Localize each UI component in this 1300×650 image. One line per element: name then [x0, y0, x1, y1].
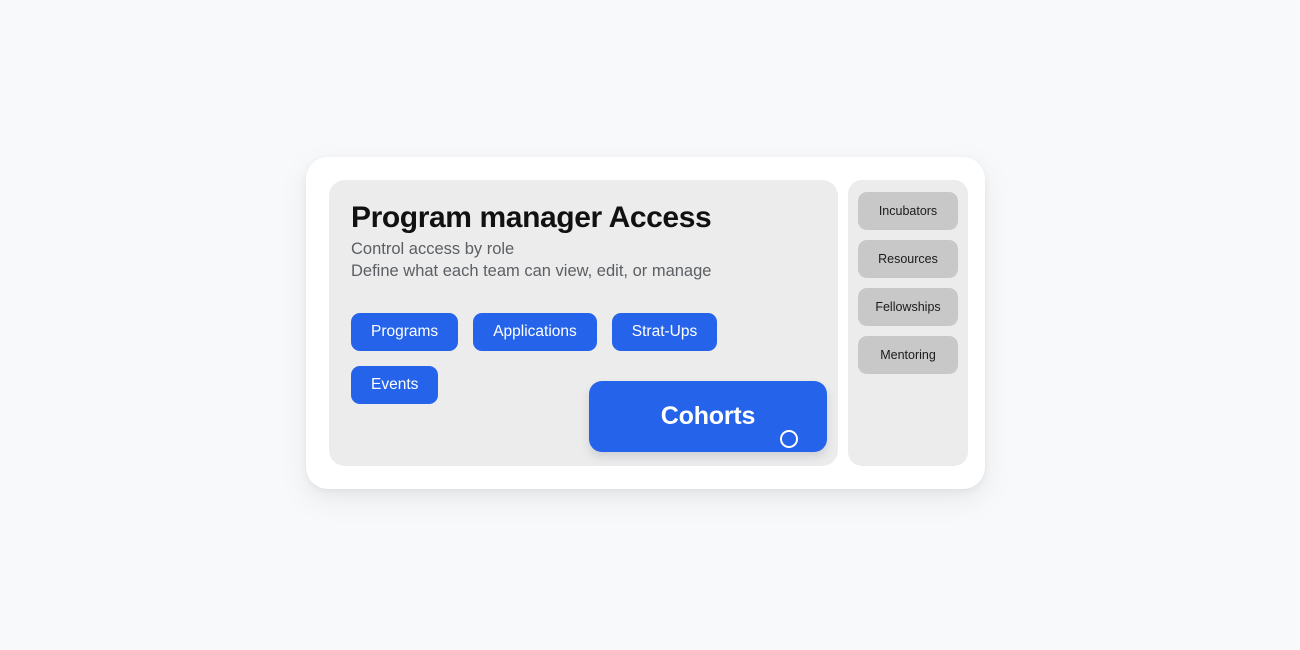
role-chip-events[interactable]: Events [351, 366, 438, 404]
main-panel: Program manager Access Control access by… [329, 180, 838, 466]
cohorts-button[interactable]: Cohorts [589, 381, 827, 452]
subtitle-line-2: Define what each team can view, edit, or… [351, 261, 816, 283]
sidebar-item-resources[interactable]: Resources [858, 240, 958, 278]
cohorts-button-label: Cohorts [661, 402, 755, 431]
role-chip-programs[interactable]: Programs [351, 313, 458, 351]
sidebar-item-incubators[interactable]: Incubators [858, 192, 958, 230]
circle-cursor-icon [780, 430, 798, 448]
sidebar-panel: Incubators Resources Fellowships Mentori… [848, 180, 968, 466]
subtitle-line-1: Control access by role [351, 239, 816, 261]
page-title: Program manager Access [351, 202, 816, 233]
role-chip-strat-ups[interactable]: Strat-Ups [612, 313, 717, 351]
sidebar-item-fellowships[interactable]: Fellowships [858, 288, 958, 326]
access-control-card: Program manager Access Control access by… [306, 157, 985, 489]
role-chip-applications[interactable]: Applications [473, 313, 597, 351]
role-chip-row-1: Programs Applications Strat-Ups [351, 313, 816, 351]
sidebar-item-mentoring[interactable]: Mentoring [858, 336, 958, 374]
